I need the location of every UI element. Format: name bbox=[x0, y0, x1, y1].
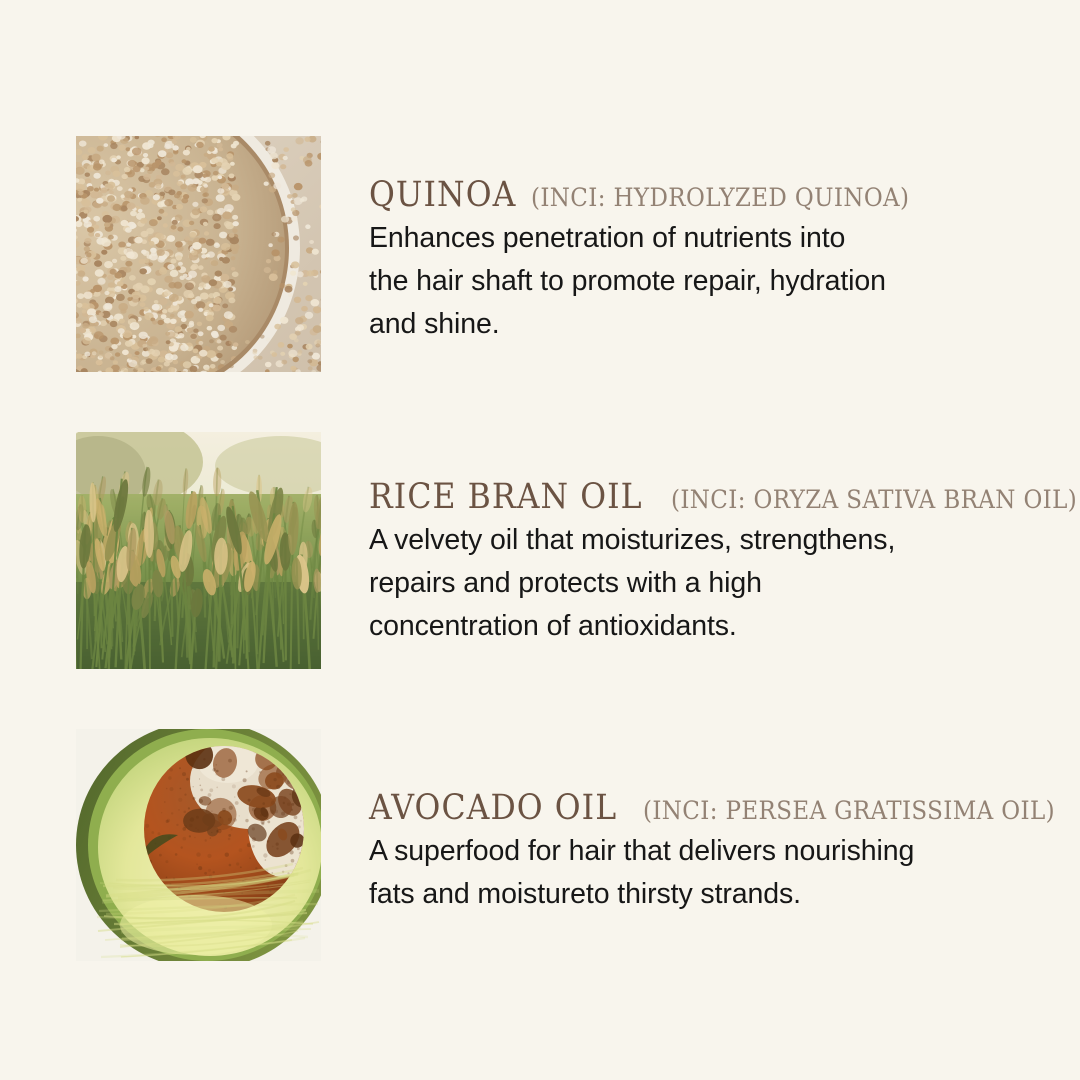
description-line: and shine. bbox=[369, 303, 1049, 346]
ingredient-benefits-panel: QUINOA(INCI: HYDROLYZED QUINOA) Enhances… bbox=[0, 0, 1080, 1080]
ingredient-image-quinoa bbox=[76, 136, 321, 372]
description-line: the hair shaft to promote repair, hydrat… bbox=[369, 260, 1049, 303]
ingredient-name: AVOCADO OIL bbox=[369, 791, 617, 826]
ingredient-image-rice-bran-oil bbox=[76, 432, 321, 669]
ingredient-name: QUINOA bbox=[369, 178, 516, 213]
description-line: A velvety oil that moisturizes, strength… bbox=[369, 519, 1049, 562]
ingredient-inci: (INCI: ORYZA SATIVA BRAN OIL) bbox=[671, 487, 1077, 512]
ingredient-copy-quinoa: QUINOA(INCI: HYDROLYZED QUINOA) Enhances… bbox=[369, 178, 1059, 346]
ingredient-heading-rice-bran-oil: RICE BRAN OIL(INCI: ORYZA SATIVA BRAN OI… bbox=[369, 480, 1059, 515]
ingredient-image-avocado-oil bbox=[76, 729, 321, 961]
ingredient-copy-avocado-oil: AVOCADO OIL(INCI: PERSEA GRATISSIMA OIL)… bbox=[369, 791, 1059, 916]
description-line: repairs and protects with a high bbox=[369, 562, 1049, 605]
ingredient-heading-quinoa: QUINOA(INCI: HYDROLYZED QUINOA) bbox=[369, 178, 1059, 213]
ingredient-copy-rice-bran-oil: RICE BRAN OIL(INCI: ORYZA SATIVA BRAN OI… bbox=[369, 480, 1059, 648]
description-line: A superfood for hair that delivers nouri… bbox=[369, 830, 1049, 873]
description-line: concentration of antioxidants. bbox=[369, 605, 1049, 648]
rice-field-photo-illustration bbox=[76, 432, 321, 669]
ingredient-inci: (INCI: PERSEA GRATISSIMA OIL) bbox=[643, 798, 1055, 823]
ingredient-heading-avocado-oil: AVOCADO OIL(INCI: PERSEA GRATISSIMA OIL) bbox=[369, 791, 1059, 826]
description-line: fats and moistureto thirsty strands. bbox=[369, 873, 1049, 916]
avocado-photo-illustration bbox=[76, 729, 321, 961]
quinoa-photo-illustration bbox=[76, 136, 321, 372]
ingredient-name: RICE BRAN OIL bbox=[369, 480, 643, 515]
ingredient-inci: (INCI: HYDROLYZED QUINOA) bbox=[531, 185, 909, 210]
ingredient-description-avocado-oil: A superfood for hair that delivers nouri… bbox=[369, 830, 1049, 916]
ingredient-description-quinoa: Enhances penetration of nutrients into t… bbox=[369, 217, 1049, 346]
ingredient-description-rice-bran-oil: A velvety oil that moisturizes, strength… bbox=[369, 519, 1049, 648]
description-line: Enhances penetration of nutrients into bbox=[369, 217, 1049, 260]
